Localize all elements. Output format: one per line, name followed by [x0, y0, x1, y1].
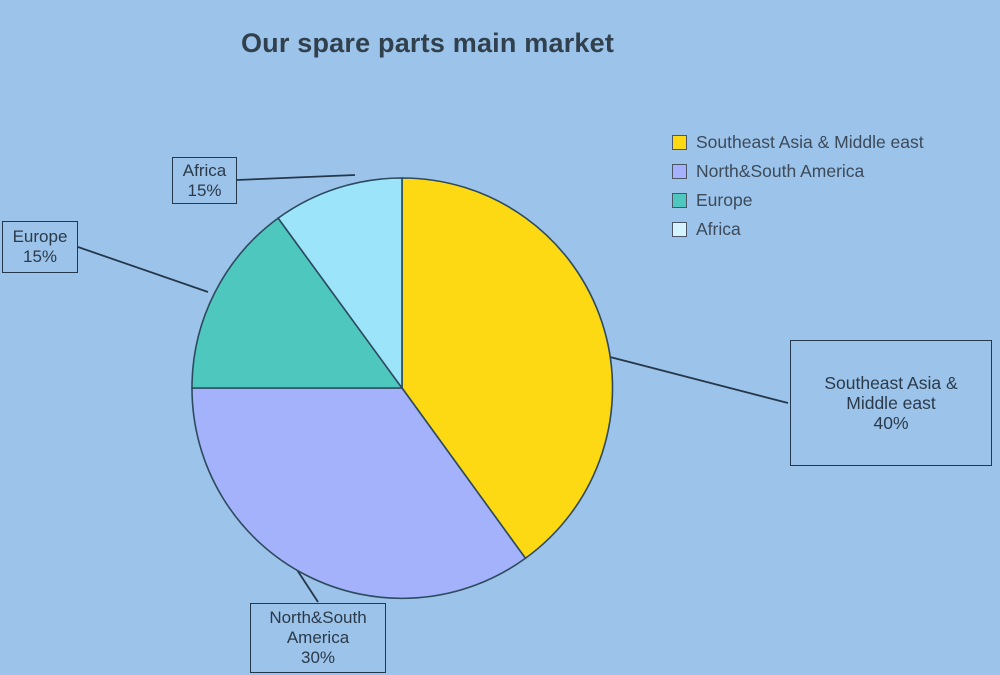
- legend-item-label: North&South America: [696, 163, 864, 181]
- callout-southeast-asia[interactable]: Southeast Asia & Middle east 40%: [790, 340, 992, 466]
- legend-item-label: Europe: [696, 192, 752, 210]
- callout-europe[interactable]: Europe 15%: [2, 221, 78, 273]
- legend-item-label: Southeast Asia & Middle east: [696, 134, 924, 152]
- callout-line-1: Africa: [183, 161, 226, 181]
- callout-line-1: North&South: [269, 608, 366, 628]
- callout-value: 15%: [23, 247, 57, 267]
- callout-north-south-america[interactable]: North&South America 30%: [250, 603, 386, 673]
- legend-item-southeast-asia[interactable]: Southeast Asia & Middle east: [672, 128, 972, 157]
- callout-value: 15%: [187, 181, 221, 201]
- legend-item-north-south-america[interactable]: North&South America: [672, 157, 972, 186]
- legend-swatch-icon: [672, 135, 687, 150]
- callout-value: 40%: [873, 413, 908, 433]
- legend-swatch-icon: [672, 164, 687, 179]
- legend-item-europe[interactable]: Europe: [672, 186, 972, 215]
- legend-item-label: Africa: [696, 221, 741, 239]
- callout-line-2: America: [287, 628, 349, 648]
- legend-swatch-icon: [672, 193, 687, 208]
- leader-line-africa: [237, 175, 355, 180]
- legend-item-africa[interactable]: Africa: [672, 215, 972, 244]
- leader-line-southeast-asia: [610, 357, 788, 403]
- pie-chart: [0, 0, 1000, 675]
- legend: Southeast Asia & Middle east North&South…: [672, 128, 972, 244]
- callout-africa[interactable]: Africa 15%: [172, 157, 237, 204]
- callout-line-1: Southeast Asia &: [824, 373, 957, 393]
- callout-line-2: Middle east: [846, 393, 936, 413]
- legend-swatch-icon: [672, 222, 687, 237]
- slide-canvas: Our spare parts main market Southeast As…: [0, 0, 1000, 675]
- callout-line-1: Europe: [13, 227, 68, 247]
- callout-value: 30%: [301, 648, 335, 668]
- leader-line-europe: [78, 247, 208, 292]
